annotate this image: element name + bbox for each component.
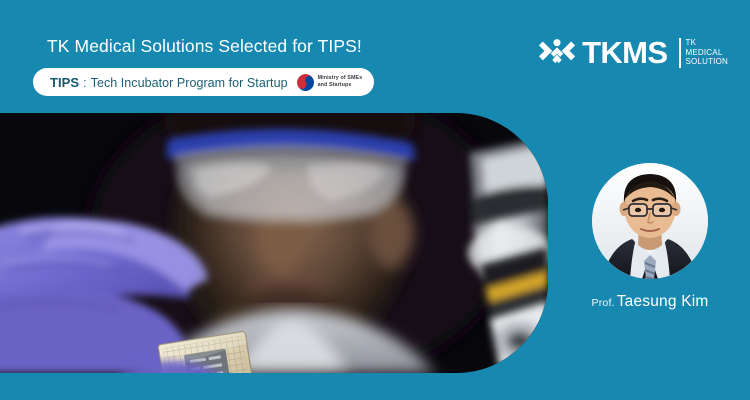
tips-badge-acronym: TIPS (50, 75, 79, 90)
profile-name: Prof.Taesung Kim (580, 293, 720, 311)
tkms-logo: TKMS TK MEDICAL SOLUTION (537, 36, 728, 69)
avatar (592, 163, 708, 279)
ministry-logo: Ministry of SMEs and Startups (297, 74, 367, 91)
ministry-line-2: and Startups (318, 82, 363, 89)
hero-illustration (0, 113, 548, 373)
profile-full-name: Taesung Kim (617, 293, 709, 310)
ministry-line-1: Ministry of SMEs (318, 75, 363, 82)
tkms-tagline: TK MEDICAL SOLUTION (679, 38, 729, 68)
tkms-mark-icon (537, 36, 577, 69)
avatar-illustration (592, 163, 708, 279)
tkms-tagline-line-2: MEDICAL (686, 48, 729, 58)
tips-badge-separator: : (83, 76, 87, 90)
page-title: TK Medical Solutions Selected for TIPS! (47, 36, 362, 57)
tips-badge-description: Tech Incubator Program for Startup (91, 76, 288, 90)
tips-badge: TIPS : Tech Incubator Program for Startu… (33, 68, 374, 96)
promo-banner: TK Medical Solutions Selected for TIPS! … (0, 0, 750, 400)
banner-header: TK Medical Solutions Selected for TIPS! … (0, 0, 750, 113)
hero-image (0, 113, 548, 373)
ministry-logo-text: Ministry of SMEs and Startups (318, 75, 363, 89)
profile-title: Prof. (592, 297, 615, 309)
tips-badge-text: TIPS : Tech Incubator Program for Startu… (50, 75, 288, 90)
tkms-tagline-line-1: TK (686, 38, 729, 48)
tkms-tagline-line-3: SOLUTION (686, 57, 729, 67)
profile-block: Prof.Taesung Kim (580, 163, 720, 311)
taegeuk-icon (294, 71, 317, 94)
tkms-wordmark: TKMS (582, 37, 667, 68)
